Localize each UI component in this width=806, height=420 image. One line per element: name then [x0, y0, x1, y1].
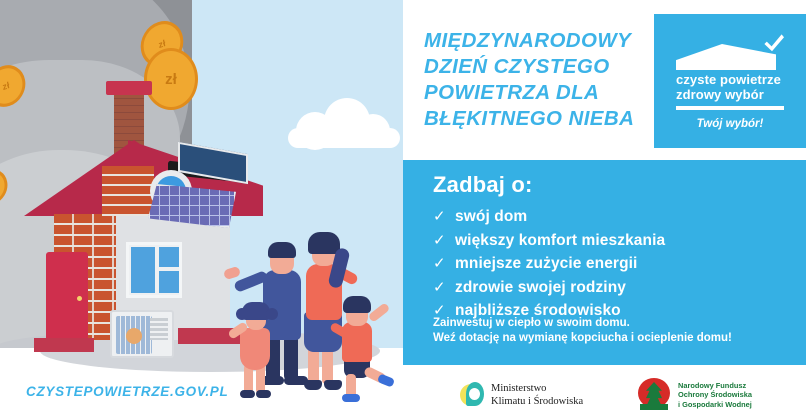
ministry-line-1: Ministerstwo [491, 382, 583, 395]
illustration-house-family [0, 0, 403, 420]
porch-step [34, 338, 94, 352]
list-item: ✓ swój dom [433, 206, 793, 227]
fund-line-1: Narodowy Fundusz [678, 381, 752, 390]
brand-logo-rule [676, 106, 784, 110]
brand-logo-line2: zdrowy wybór [676, 87, 764, 102]
page-title: MIĘDZYNARODOWY DZIEŃ CZYSTEGO POWIETRZA … [424, 28, 656, 132]
family-illustration [236, 204, 403, 412]
title-line-1: MIĘDZYNARODOWY [424, 28, 656, 54]
website-url[interactable]: CZYSTEPOWIETRZE.GOV.PL [26, 384, 228, 399]
call-to-action: Zainwestuj w ciepło w swoim domu. Weź do… [433, 316, 805, 346]
brand-logo-line1: czyste powietrze [676, 72, 781, 87]
ministry-logo[interactable]: Ministerstwo Klimatu i Środowiska [460, 378, 630, 412]
gable-brick [102, 166, 154, 216]
house-roof-check-icon [676, 36, 784, 70]
window-icon [126, 242, 182, 298]
cta-line-1: Zainwestuj w ciepło w swoim domu. [433, 316, 805, 331]
ministry-swirl-icon [460, 382, 484, 408]
cta-line-2: Weź dotację na wymianę kopciucha i ociep… [433, 331, 805, 346]
fund-name: Narodowy Fundusz Ochrony Środowiska i Go… [678, 381, 752, 409]
list-item-label: większy komfort mieszkania [455, 230, 665, 251]
chimney-cap [106, 81, 152, 95]
benefits-panel: Zadbaj o: ✓ swój dom ✓ większy komfort m… [403, 160, 806, 365]
fund-logo[interactable]: Narodowy Fundusz Ochrony Środowiska i Go… [636, 376, 806, 414]
ministry-line-2: Klimatu i Środowiska [491, 395, 583, 408]
title-line-4: BŁĘKITNEGO NIEBA [424, 106, 656, 132]
title-line-2: DZIEŃ CZYSTEGO [424, 54, 656, 80]
list-item: ✓ większy komfort mieszkania [433, 230, 793, 251]
house-illustration [28, 92, 258, 340]
nfosigw-tree-icon [636, 378, 672, 412]
check-icon: ✓ [433, 233, 446, 248]
check-icon: ✓ [433, 280, 446, 295]
list-item-label: mniejsze zużycie energii [455, 253, 637, 274]
title-line-3: POWIETRZA DLA [424, 80, 656, 106]
list-item: ✓ zdrowie swojej rodziny [433, 277, 793, 298]
heat-pump-icon [110, 310, 174, 358]
poster-canvas: MIĘDZYNARODOWY DZIEŃ CZYSTEGO POWIETRZA … [0, 0, 806, 420]
list-item-label: swój dom [455, 206, 527, 227]
brand-logo-box[interactable]: czyste powietrze zdrowy wybór Twój wybór… [654, 14, 806, 148]
list-item: ✓ mniejsze zużycie energii [433, 253, 793, 274]
brand-tagline: Twój wybór! [654, 118, 806, 130]
fund-line-2: Ochrony Środowiska [678, 390, 752, 399]
ministry-name: Ministerstwo Klimatu i Środowiska [491, 382, 583, 408]
benefits-list: ✓ swój dom ✓ większy komfort mieszkania … [433, 206, 793, 324]
list-item-label: zdrowie swojej rodziny [455, 277, 626, 298]
fund-line-3: i Gospodarki Wodnej [678, 400, 752, 409]
panel-heading: Zadbaj o: [433, 172, 533, 198]
cloud-icon [282, 96, 402, 144]
check-icon: ✓ [433, 209, 446, 224]
check-icon: ✓ [433, 256, 446, 271]
front-door [46, 252, 88, 340]
